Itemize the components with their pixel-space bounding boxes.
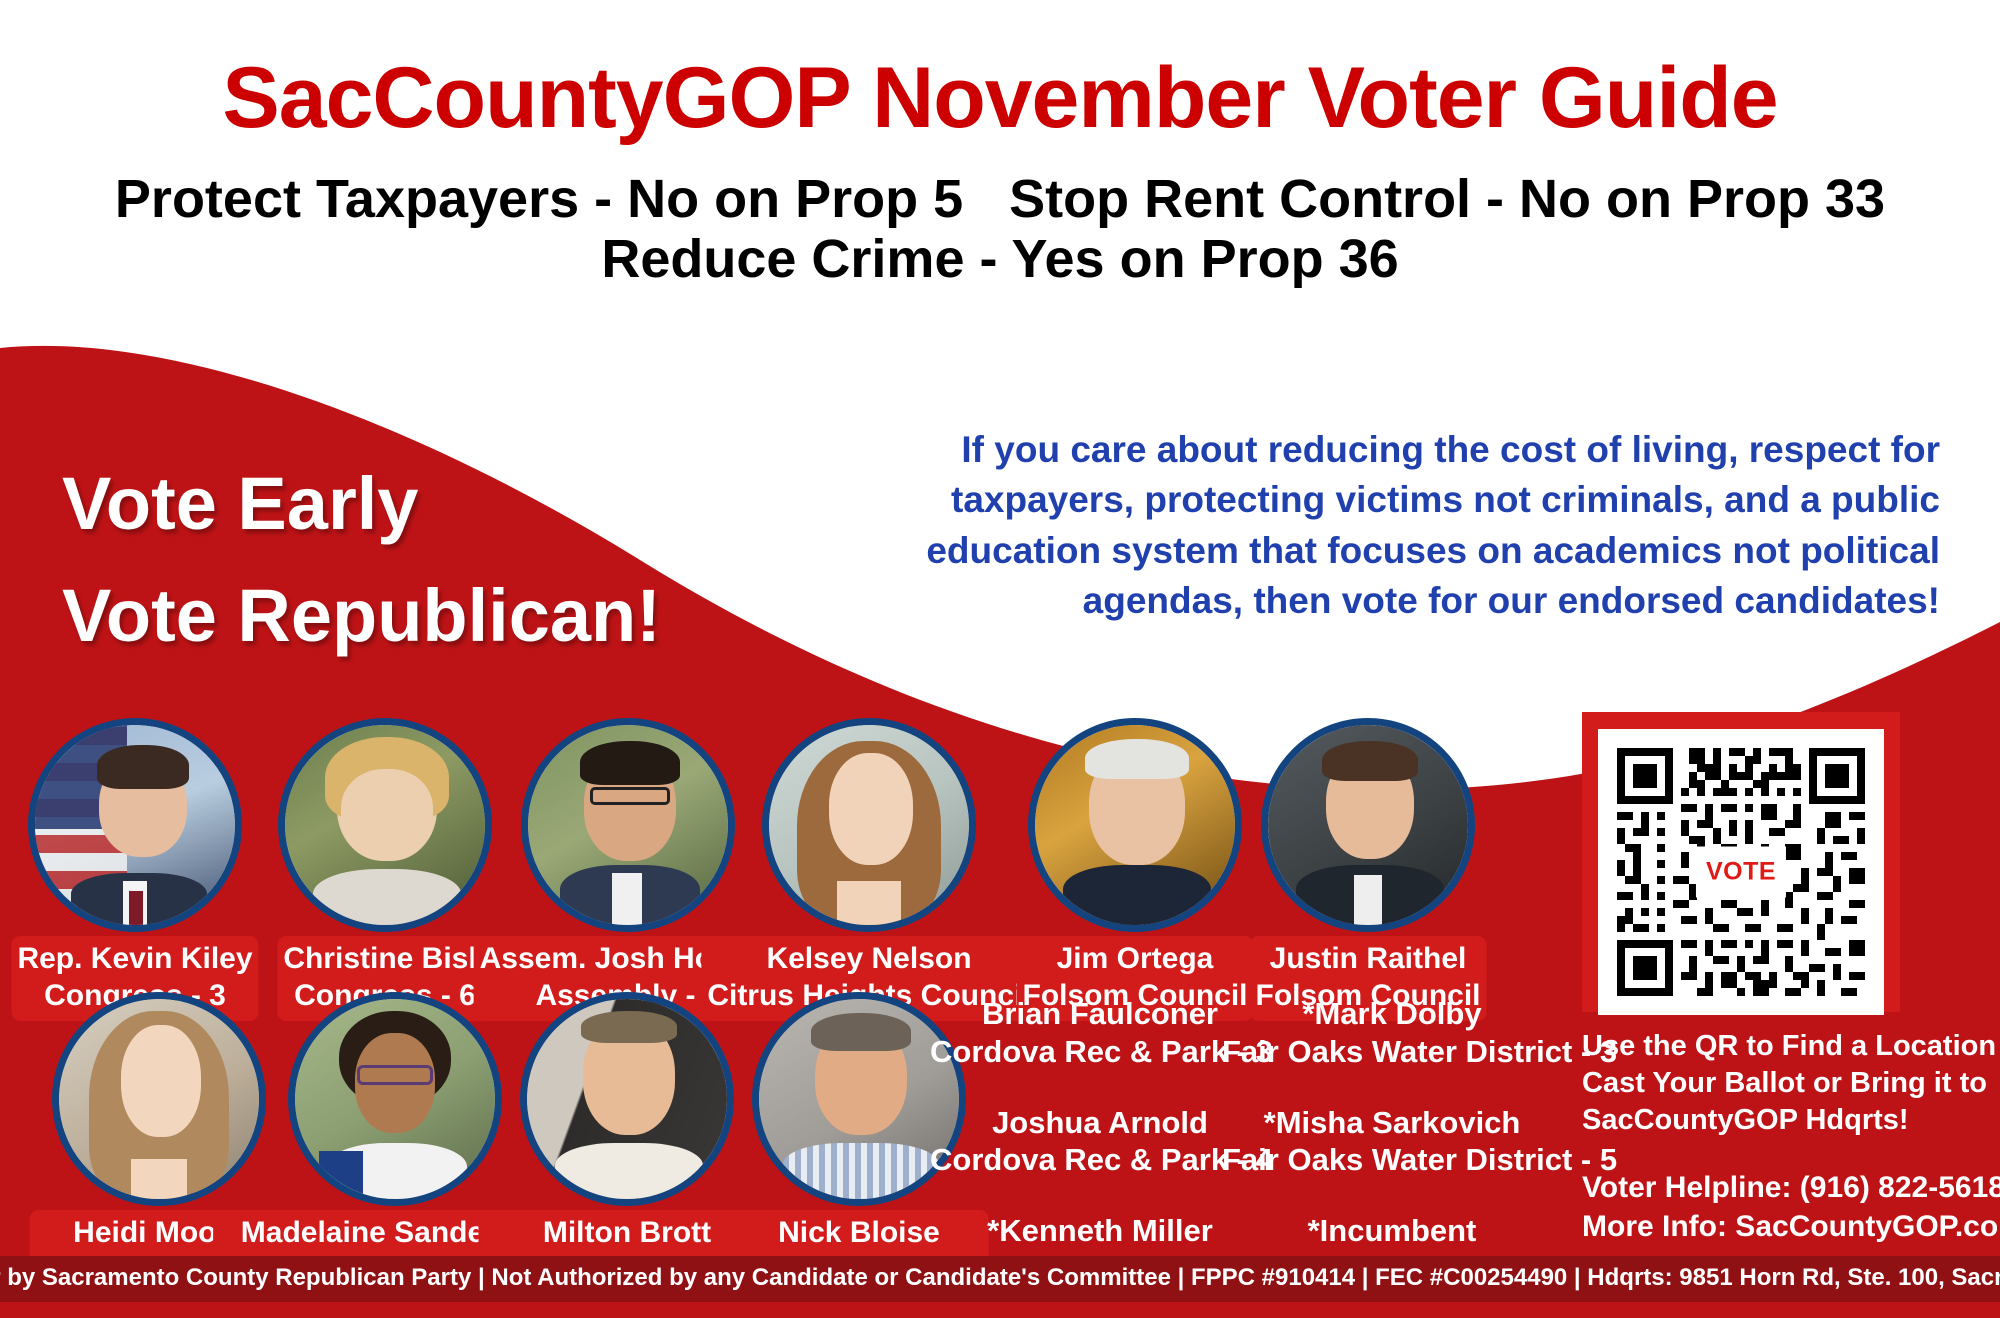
qr-center-vote-label: VOTE [1696, 847, 1786, 898]
candidate-name: Milton Brott [484, 1215, 769, 1252]
candidate-name: *Misha Sarkovich [1222, 1104, 1562, 1142]
candidate-photo-christine-bish [278, 718, 492, 932]
candidate-name: *Kenneth Miller [930, 1212, 1270, 1250]
intro-paragraph: If you care about reducing the cost of l… [920, 425, 1940, 626]
prop-36-statement: Reduce Crime - Yes on Prop 36 [0, 229, 2000, 289]
candidate-name: Justin Raithel [1256, 941, 1481, 978]
candidate-photo-jim-ortega [1028, 718, 1242, 932]
qr-frame: VOTE [1582, 712, 1900, 1012]
candidate-card-christine-bish: Christine Bish Congress - 6 [278, 718, 492, 1021]
text-candidate-brian-faulconer: Brian Faulconer Cordova Rec & Park - 3 [930, 995, 1270, 1071]
prop-5-statement: Protect Taxpayers - No on Prop 5 [115, 169, 963, 229]
incumbent-legend: *Incumbent [1222, 1212, 1562, 1250]
candidate-card-jim-ortega: Jim Ortega Folsom Council [1028, 718, 1242, 1021]
disclaimer-footer: Paid for by Sacramento County Republican… [0, 1256, 2000, 1302]
candidate-photo-kelsey-nelson [762, 718, 976, 932]
vote-early-line-2: Vote Republican! [62, 560, 661, 672]
candidate-office: Fair Oaks Water District - 3 [1222, 1033, 1562, 1071]
qr-caption: Use the QR to Find a Location to Cast Yo… [1582, 1028, 1900, 1138]
candidate-photo-heidi-moore [52, 992, 266, 1206]
candidate-photo-kevin-kiley [28, 718, 242, 932]
candidate-card-justin-raithel: Justin Raithel Folsom Council [1261, 718, 1475, 1021]
candidate-name: Brian Faulconer [930, 995, 1270, 1033]
candidate-card-kevin-kiley: Rep. Kevin Kiley Congress - 3 [28, 718, 242, 1021]
text-candidates-column-2: *Mark Dolby Fair Oaks Water District - 3… [1222, 995, 1562, 1250]
incumbent-legend-label: *Incumbent [1222, 1212, 1562, 1250]
candidate-office: Cordova Rec & Park - 4 [930, 1141, 1270, 1179]
qr-caption-line-3: SacCountyGOP Hdqrts! [1582, 1102, 1900, 1139]
more-info-website[interactable]: More Info: SacCountyGOP.com [1582, 1207, 1900, 1246]
contact-info: Voter Helpline: (916) 822-5618 More Info… [1582, 1168, 1900, 1246]
candidate-card-milton-brott: Milton Brott Roseville JUHSD - 1 [520, 992, 734, 1295]
page-title: SacCountyGOP November Voter Guide [0, 0, 2000, 141]
propositions-block: Protect Taxpayers - No on Prop 5Stop Ren… [0, 169, 2000, 290]
vote-early-line-1: Vote Early [62, 448, 661, 560]
candidate-photo-justin-raithel [1261, 718, 1475, 932]
qr-section: VOTE Use the QR to Find a Location to Ca… [1582, 712, 1900, 1246]
voter-helpline[interactable]: Voter Helpline: (916) 822-5618 [1582, 1168, 1900, 1207]
candidate-card-madelaine-sanderson: Madelaine Sanderson Folsom Cordova USD -… [288, 992, 502, 1295]
candidate-name: Joshua Arnold [930, 1104, 1270, 1142]
text-candidate-misha-sarkovich: *Misha Sarkovich Fair Oaks Water Distric… [1222, 1104, 1562, 1180]
voter-guide-poster: SacCountyGOP November Voter Guide Protec… [0, 0, 2000, 1318]
text-candidate-joshua-arnold: Joshua Arnold Cordova Rec & Park - 4 [930, 1104, 1270, 1180]
candidate-office: Fair Oaks Water District - 5 [1222, 1141, 1562, 1179]
candidate-name: *Mark Dolby [1222, 995, 1562, 1033]
candidate-photo-josh-hoover [521, 718, 735, 932]
qr-white-surround: VOTE [1598, 729, 1884, 1015]
text-candidate-mark-dolby: *Mark Dolby Fair Oaks Water District - 3 [1222, 995, 1562, 1071]
candidate-photo-madelaine-sanderson [288, 992, 502, 1206]
candidate-card-kelsey-nelson: Kelsey Nelson Citrus Heights Council [762, 718, 976, 1021]
qr-caption-line-2: Cast Your Ballot or Bring it to [1582, 1065, 1900, 1102]
prop-33-statement: Stop Rent Control - No on Prop 33 [1009, 169, 1885, 229]
candidate-name: Jim Ortega [1023, 941, 1248, 978]
text-candidates-column-1: Brian Faulconer Cordova Rec & Park - 3 J… [930, 995, 1270, 1288]
poster-header: SacCountyGOP November Voter Guide Protec… [0, 0, 2000, 290]
candidate-name: Rep. Kevin Kiley [17, 941, 252, 978]
candidate-name: Christine Bish [283, 941, 486, 978]
prop-line-row-1: Protect Taxpayers - No on Prop 5Stop Ren… [0, 169, 2000, 229]
candidate-photo-milton-brott [520, 992, 734, 1206]
candidate-office: Cordova Rec & Park - 3 [930, 1033, 1270, 1071]
qr-caption-line-1: Use the QR to Find a Location to [1582, 1028, 1900, 1065]
vote-early-headline: Vote Early Vote Republican! [62, 448, 661, 673]
candidate-name: Kelsey Nelson [707, 941, 1030, 978]
